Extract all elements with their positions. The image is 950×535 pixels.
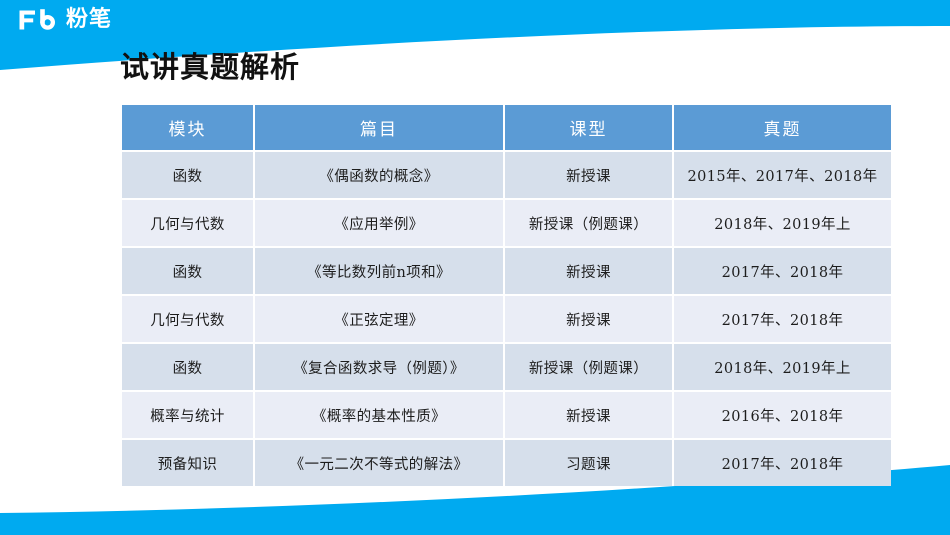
cell-exam: 2018年、2019年上 (674, 200, 891, 246)
cell-lesson: 《等比数列前n项和》 (255, 248, 503, 294)
cell-lesson: 《一元二次不等式的解法》 (255, 440, 503, 486)
brand-wordmark: 粉笔 (66, 9, 112, 31)
cell-lesson: 《偶函数的概念》 (255, 152, 503, 198)
table-row: 几何与代数 《应用举例》 新授课（例题课） 2018年、2019年上 (122, 200, 891, 246)
cell-module: 预备知识 (122, 440, 253, 486)
cell-type: 新授课（例题课） (505, 200, 672, 246)
cell-exam: 2016年、2018年 (674, 392, 891, 438)
brand-logo: 粉笔 (17, 8, 112, 32)
cell-exam: 2017年、2018年 (674, 248, 891, 294)
table-body: 函数 《偶函数的概念》 新授课 2015年、2017年、2018年 几何与代数 … (122, 152, 891, 486)
table-row: 几何与代数 《正弦定理》 新授课 2017年、2018年 (122, 296, 891, 342)
table-row: 预备知识 《一元二次不等式的解法》 习题课 2017年、2018年 (122, 440, 891, 486)
cell-type: 新授课（例题课） (505, 344, 672, 390)
cell-module: 函数 (122, 344, 253, 390)
table-header: 模块 篇目 课型 真题 (122, 105, 891, 150)
real-exam-table: 模块 篇目 课型 真题 函数 《偶函数的概念》 新授课 2015年、2017年、… (120, 103, 893, 488)
real-exam-table-container: 模块 篇目 课型 真题 函数 《偶函数的概念》 新授课 2015年、2017年、… (120, 103, 891, 488)
cell-exam: 2017年、2018年 (674, 440, 891, 486)
table-row: 概率与统计 《概率的基本性质》 新授课 2016年、2018年 (122, 392, 891, 438)
cell-module: 函数 (122, 248, 253, 294)
cell-lesson: 《正弦定理》 (255, 296, 503, 342)
column-header-type: 课型 (505, 105, 672, 150)
table-row: 函数 《复合函数求导（例题）》 新授课（例题课） 2018年、2019年上 (122, 344, 891, 390)
page-title: 试讲真题解析 (120, 50, 300, 86)
cell-lesson: 《复合函数求导（例题）》 (255, 344, 503, 390)
cell-module: 几何与代数 (122, 200, 253, 246)
cell-exam: 2017年、2018年 (674, 296, 891, 342)
cell-type: 习题课 (505, 440, 672, 486)
cell-exam: 2015年、2017年、2018年 (674, 152, 891, 198)
column-header-lesson: 篇目 (255, 105, 503, 150)
table-header-row: 模块 篇目 课型 真题 (122, 105, 891, 150)
cell-type: 新授课 (505, 392, 672, 438)
cell-lesson: 《应用举例》 (255, 200, 503, 246)
cell-module: 函数 (122, 152, 253, 198)
cell-type: 新授课 (505, 152, 672, 198)
cell-module: 几何与代数 (122, 296, 253, 342)
cell-module: 概率与统计 (122, 392, 253, 438)
slide-canvas: 粉笔 试讲真题解析 模块 篇目 课型 真题 函数 (0, 0, 950, 535)
cell-lesson: 《概率的基本性质》 (255, 392, 503, 438)
column-header-module: 模块 (122, 105, 253, 150)
cell-exam: 2018年、2019年上 (674, 344, 891, 390)
fb-logo-icon (17, 8, 59, 32)
table-row: 函数 《等比数列前n项和》 新授课 2017年、2018年 (122, 248, 891, 294)
cell-type: 新授课 (505, 296, 672, 342)
column-header-exam: 真题 (674, 105, 891, 150)
cell-type: 新授课 (505, 248, 672, 294)
table-row: 函数 《偶函数的概念》 新授课 2015年、2017年、2018年 (122, 152, 891, 198)
